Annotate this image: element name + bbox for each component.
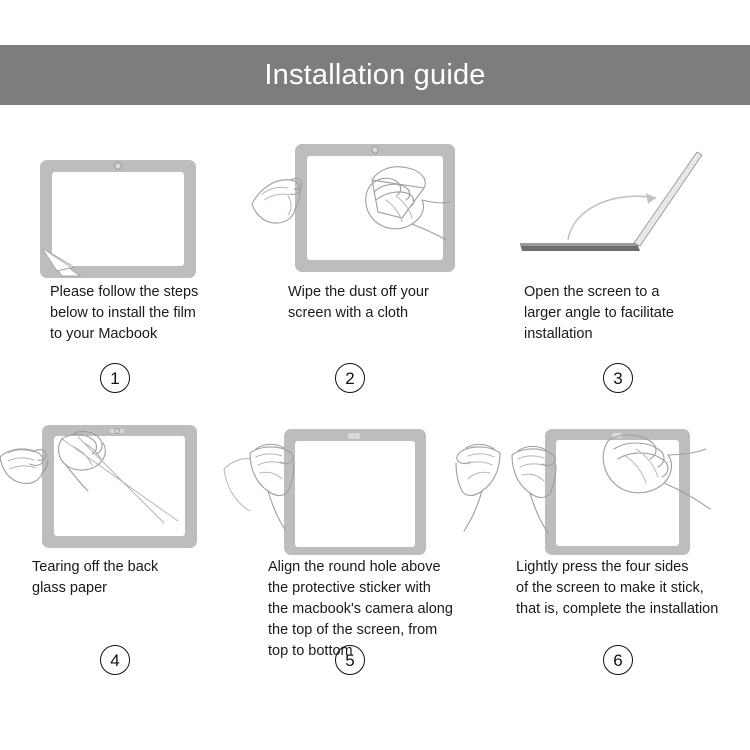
step-card-4: Tearing off the back glass paper 4 xyxy=(0,405,250,680)
step-1-illustration xyxy=(0,130,250,280)
step-6-caption: Lightly press the four sides of the scre… xyxy=(516,557,750,620)
step-3-caption: Open the screen to a larger angle to fac… xyxy=(524,282,739,345)
step-card-1: Please follow the steps below to install… xyxy=(0,130,250,405)
step-6-number: 6 xyxy=(613,652,622,669)
step-5-number-badge: 5 xyxy=(335,645,365,675)
step-6-illustration xyxy=(500,405,750,555)
laptop-open-angle-icon xyxy=(500,130,750,280)
step-2-number-badge: 2 xyxy=(335,363,365,393)
step-4-caption: Tearing off the back glass paper xyxy=(32,557,232,599)
step-card-2: Wipe the dust off your screen with a clo… xyxy=(250,130,500,405)
step-1-caption: Please follow the steps below to install… xyxy=(50,282,245,345)
step-5-caption: Align the round hole above the protectiv… xyxy=(268,557,488,662)
hand-wiping-screen-icon xyxy=(250,130,500,280)
step-card-3: Open the screen to a larger angle to fac… xyxy=(500,130,750,405)
step-4-number-badge: 4 xyxy=(100,645,130,675)
step-2-caption: Wipe the dust off your screen with a clo… xyxy=(288,282,488,324)
step-card-5: Align the round hole above the protectiv… xyxy=(250,405,500,680)
step-5-number: 5 xyxy=(345,652,354,669)
steps-grid: Please follow the steps below to install… xyxy=(0,130,750,680)
step-4-number: 4 xyxy=(110,652,119,669)
page-title: Installation guide xyxy=(264,59,485,92)
step-5-illustration xyxy=(250,405,500,555)
step-1-number: 1 xyxy=(110,370,119,387)
step-1-number-badge: 1 xyxy=(100,363,130,393)
step-3-illustration xyxy=(500,130,750,280)
two-hands-aligning-film-icon xyxy=(250,405,500,555)
step-6-number-badge: 6 xyxy=(603,645,633,675)
step-3-number: 3 xyxy=(613,370,622,387)
tablet-with-peeling-film-icon xyxy=(0,130,250,280)
installation-guide-page: Installation guide Please follow the ste… xyxy=(0,0,750,750)
step-2-illustration xyxy=(250,130,500,280)
step-card-6: Lightly press the four sides of the scre… xyxy=(500,405,750,680)
step-2-number: 2 xyxy=(345,370,354,387)
header-bar: Installation guide xyxy=(0,45,750,105)
hands-peeling-backing-icon xyxy=(0,405,250,555)
step-3-number-badge: 3 xyxy=(603,363,633,393)
hand-pressing-screen-icon xyxy=(500,405,750,555)
step-4-illustration xyxy=(0,405,250,555)
